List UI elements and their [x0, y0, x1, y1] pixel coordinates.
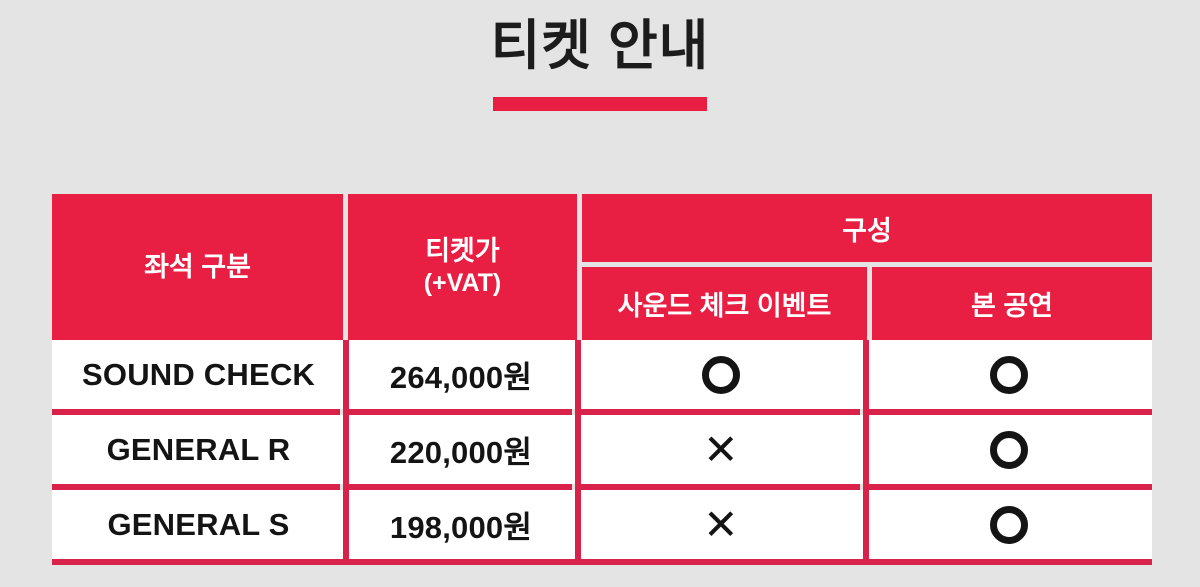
table-row: GENERAL S 198,000원 ✕ — [52, 490, 1152, 559]
cell-sound-check-event: ✕ — [577, 415, 865, 484]
header-label-ticket-price-group: 티켓가 (+VAT) — [424, 235, 502, 298]
cell-seat-category: SOUND CHECK — [52, 340, 345, 409]
header-cell-ticket-price: 티켓가 (+VAT) — [348, 194, 577, 340]
header-label-ticket-price-vat: (+VAT) — [424, 268, 502, 299]
cross-mark-icon: ✕ — [703, 504, 738, 546]
circle-mark-icon — [990, 431, 1028, 469]
table-row: SOUND CHECK 264,000원 — [52, 340, 1152, 409]
cell-sound-check-event: ✕ — [577, 490, 865, 559]
header-cell-seat-category: 좌석 구분 — [52, 194, 343, 340]
ticket-info-table: 좌석 구분 티켓가 (+VAT) 구성 사운드 체크 이벤트 본 공연 — [52, 194, 1152, 565]
header-label-ticket-price: 티켓가 — [424, 235, 502, 268]
table-row: GENERAL R 220,000원 ✕ — [52, 415, 1152, 484]
header-cell-composition: 구성 — [582, 194, 1152, 262]
cell-main-show — [865, 415, 1152, 484]
cross-mark-icon: ✕ — [703, 429, 738, 471]
table-header: 좌석 구분 티켓가 (+VAT) 구성 사운드 체크 이벤트 본 공연 — [52, 194, 1152, 340]
header-cell-sound-check-event: 사운드 체크 이벤트 — [582, 267, 867, 340]
cell-seat-category: GENERAL S — [52, 490, 345, 559]
title-underline-rule — [493, 97, 707, 111]
header-cell-main-show: 본 공연 — [872, 267, 1152, 340]
circle-mark-icon — [702, 356, 740, 394]
title-block: 티켓 안내 — [0, 18, 1200, 111]
cell-ticket-price: 220,000원 — [345, 415, 577, 484]
table-bottom-rule — [52, 559, 1152, 565]
cell-ticket-price: 198,000원 — [345, 490, 577, 559]
header-cell-composition-group: 구성 사운드 체크 이벤트 본 공연 — [582, 194, 1152, 340]
header-label-main-show: 본 공연 — [971, 284, 1053, 323]
header-label-seat-category: 좌석 구분 — [144, 251, 251, 284]
header-label-composition: 구성 — [842, 209, 892, 248]
cell-main-show — [865, 340, 1152, 409]
circle-mark-icon — [990, 356, 1028, 394]
page-title: 티켓 안내 — [0, 18, 1200, 75]
cell-sound-check-event — [577, 340, 865, 409]
table-body: SOUND CHECK 264,000원 GENERAL R 220,000원 … — [52, 340, 1152, 565]
cell-seat-category: GENERAL R — [52, 415, 345, 484]
cell-ticket-price: 264,000원 — [345, 340, 577, 409]
column-divider-3 — [863, 340, 869, 565]
header-label-sound-check-event: 사운드 체크 이벤트 — [618, 284, 832, 323]
column-divider-2 — [575, 340, 581, 565]
circle-mark-icon — [990, 506, 1028, 544]
column-divider-1 — [343, 340, 349, 565]
cell-main-show — [865, 490, 1152, 559]
header-subrow-composition: 사운드 체크 이벤트 본 공연 — [582, 267, 1152, 340]
